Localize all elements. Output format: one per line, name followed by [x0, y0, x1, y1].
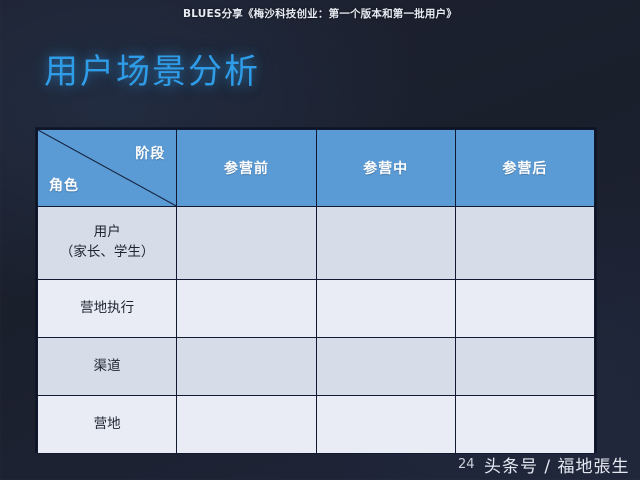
page-title: 用户场景分析 — [44, 44, 260, 93]
row-label-line1: 渠道 — [94, 358, 121, 374]
cell-camp-execution-post-camp[interactable] — [455, 280, 594, 338]
corner-split-cell: 阶段 角色 — [38, 130, 177, 207]
row-label-camp: 营地 — [38, 396, 177, 454]
cell-camp-in-camp[interactable] — [316, 396, 455, 454]
cell-channel-in-camp[interactable] — [316, 338, 455, 396]
matrix-header: 阶段 角色 参营前 参营中 参营后 — [38, 130, 595, 207]
column-header-post-camp: 参营后 — [455, 130, 594, 207]
cell-user-in-camp[interactable] — [316, 207, 455, 280]
cell-channel-pre-camp[interactable] — [177, 338, 316, 396]
matrix-body: 用户 （家长、学生） 营地执行 — [38, 207, 595, 454]
row-label-user: 用户 （家长、学生） — [38, 207, 177, 280]
table-row: 营地 — [38, 396, 595, 454]
table-row: 渠道 — [38, 338, 595, 396]
presentation-caption: BLUES分享《梅沙科技创业：第一个版本和第一批用户》 — [183, 6, 457, 21]
slide-top-bar: BLUES分享《梅沙科技创业：第一个版本和第一批用户》 — [0, 0, 640, 26]
matrix-table: 阶段 角色 参营前 参营中 参营后 用户 （家长、学生） — [37, 129, 595, 454]
cell-user-pre-camp[interactable] — [177, 207, 316, 280]
column-header-in-camp: 参营中 — [316, 130, 455, 207]
cell-camp-execution-in-camp[interactable] — [316, 280, 455, 338]
cell-camp-pre-camp[interactable] — [177, 396, 316, 454]
table-row: 营地执行 — [38, 280, 595, 338]
watermark-label: 头条号 / 福地張生 — [484, 452, 630, 477]
row-label-line1: 营地执行 — [80, 300, 134, 316]
corner-stage-label: 阶段 — [135, 143, 165, 163]
cell-user-post-camp[interactable] — [455, 207, 594, 280]
column-header-pre-camp: 参营前 — [177, 130, 316, 207]
slide-canvas: BLUES分享《梅沙科技创业：第一个版本和第一批用户》 用户场景分析 阶段 角色… — [0, 0, 640, 480]
corner-role-label: 角色 — [49, 175, 79, 195]
user-scenario-matrix: 阶段 角色 参营前 参营中 参营后 用户 （家长、学生） — [36, 128, 596, 452]
row-label-channel: 渠道 — [38, 338, 177, 396]
cell-channel-post-camp[interactable] — [455, 338, 594, 396]
row-label-line2: （家长、学生） — [42, 243, 172, 263]
row-label-line1: 用户 — [94, 224, 121, 240]
row-label-line1: 营地 — [94, 416, 121, 432]
table-header-row: 阶段 角色 参营前 参营中 参营后 — [38, 130, 595, 207]
slide-footer: 24 头条号 / 福地張生 — [0, 452, 640, 480]
table-row: 用户 （家长、学生） — [38, 207, 595, 280]
page-number: 24 — [458, 457, 475, 472]
cell-camp-post-camp[interactable] — [455, 396, 594, 454]
row-label-camp-execution: 营地执行 — [38, 280, 177, 338]
cell-camp-execution-pre-camp[interactable] — [177, 280, 316, 338]
